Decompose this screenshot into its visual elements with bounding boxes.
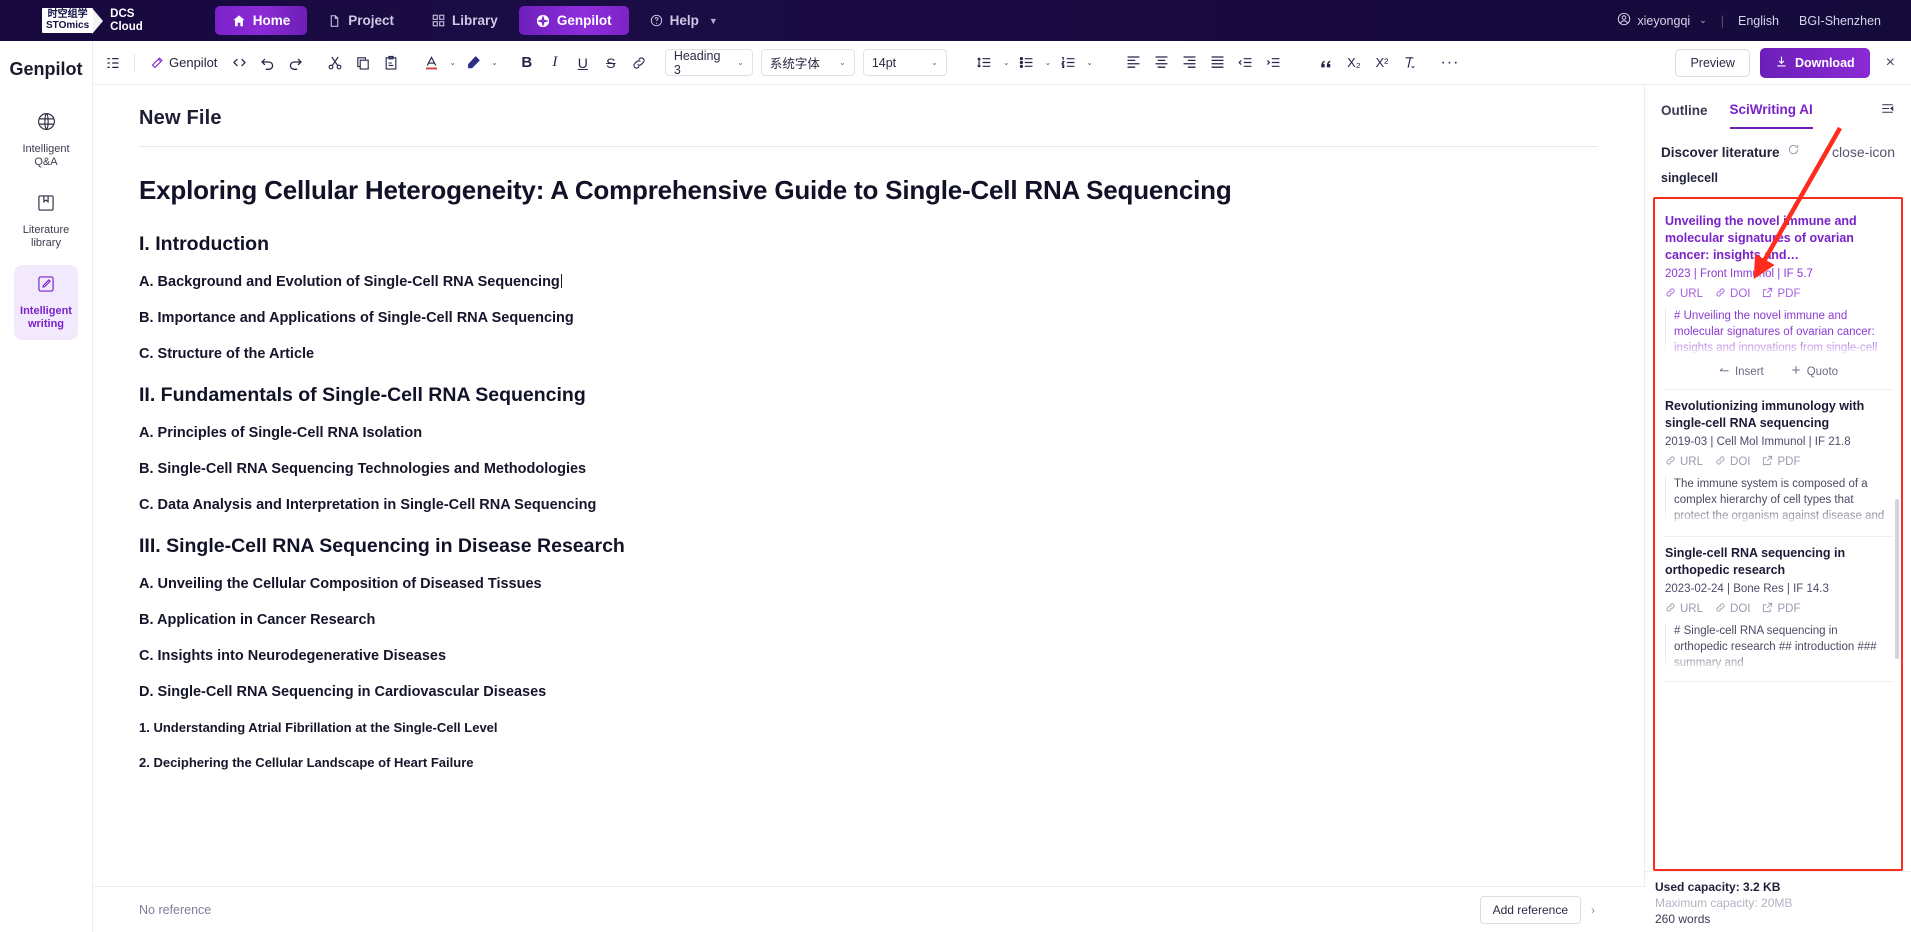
sidebar-item-intelligent-qa[interactable]: Intelligent Q&A bbox=[14, 102, 78, 178]
literature-actions: InsertQuoto bbox=[1665, 364, 1891, 379]
sidebar-item-intelligent-qa-label: Intelligent Q&A bbox=[16, 143, 76, 169]
download-icon bbox=[1775, 55, 1788, 71]
discover-literature-title: Discover literature bbox=[1661, 145, 1780, 160]
discover-literature-query: singlecell bbox=[1645, 161, 1911, 197]
literature-link-pdf[interactable]: PDF bbox=[1762, 287, 1800, 301]
refresh-icon[interactable] bbox=[1787, 143, 1800, 161]
align-right-button[interactable] bbox=[1176, 49, 1204, 77]
logo-slash-shape bbox=[92, 8, 103, 34]
bold-button[interactable]: B bbox=[513, 49, 541, 77]
nav-right-cluster: xieyongqi ⌄ | English BGI-Shenzhen bbox=[1617, 12, 1881, 29]
user-menu[interactable]: xieyongqi ⌄ bbox=[1617, 12, 1706, 29]
logo-chinese-text: 时空组学 bbox=[46, 10, 89, 21]
pencil-square-icon bbox=[36, 274, 56, 299]
superscript-button[interactable]: X² bbox=[1368, 49, 1396, 77]
document-heading-text: II. Fundamentals of Single-Cell RNA Sequ… bbox=[139, 384, 586, 406]
heading-level-select[interactable]: Heading 3 ⌄ bbox=[665, 49, 753, 76]
logo-stomics-text: STOmics bbox=[46, 21, 89, 32]
preview-button[interactable]: Preview bbox=[1675, 49, 1749, 77]
document-heading-text: A. Background and Evolution of Single-Ce… bbox=[139, 274, 560, 290]
literature-link-url[interactable]: URL bbox=[1665, 455, 1703, 469]
subscript-label: X₂ bbox=[1347, 55, 1361, 70]
font-color-button[interactable] bbox=[417, 49, 445, 77]
literature-action-quoto[interactable]: Quoto bbox=[1790, 364, 1838, 379]
undo-button[interactable] bbox=[253, 49, 281, 77]
bold-label: B bbox=[521, 54, 532, 71]
maximum-capacity-label: Maximum capacity: 20MB bbox=[1655, 896, 1901, 910]
document-heading-h3[interactable]: B. Single-Cell RNA Sequencing Technologi… bbox=[139, 461, 1598, 477]
help-icon bbox=[650, 14, 663, 27]
document-heading-text: D. Single-Cell RNA Sequencing in Cardiov… bbox=[139, 684, 546, 700]
literature-link-label: DOI bbox=[1730, 456, 1750, 468]
align-justify-button[interactable] bbox=[1204, 49, 1232, 77]
sidebar-item-literature-library[interactable]: Literature library bbox=[14, 184, 78, 259]
literature-links: URLDOIPDF bbox=[1665, 287, 1891, 301]
document-heading-h3[interactable]: C. Insights into Neurodegenerative Disea… bbox=[139, 648, 1598, 664]
strikethrough-label: S bbox=[606, 55, 615, 71]
font-family-value: 系统字体 bbox=[770, 53, 820, 72]
literature-results-annotated-region: Unveiling the novel immune and molecular… bbox=[1653, 197, 1903, 871]
document-heading-h3[interactable]: A. Background and Evolution of Single-Ce… bbox=[139, 274, 1598, 290]
document-heading-h2[interactable]: I. Introduction bbox=[139, 233, 1598, 256]
nav-item-help[interactable]: Help ▼ bbox=[633, 6, 735, 35]
literature-abstract: # Unveiling the novel immune and molecul… bbox=[1665, 308, 1891, 356]
align-left-button[interactable] bbox=[1120, 49, 1148, 77]
document-heading-h4[interactable]: 2. Deciphering the Cellular Landscape of… bbox=[139, 755, 1598, 770]
home-icon bbox=[232, 14, 246, 28]
strikethrough-button[interactable]: S bbox=[597, 49, 625, 77]
line-height-button[interactable] bbox=[971, 49, 999, 77]
indent-button[interactable] bbox=[1260, 49, 1288, 77]
document-heading-h3[interactable]: C. Structure of the Article bbox=[139, 346, 1598, 362]
font-color-dropdown-caret[interactable]: ⌄ bbox=[446, 58, 459, 67]
nav-divider: | bbox=[1721, 14, 1724, 28]
document-heading-text: B. Single-Cell RNA Sequencing Technologi… bbox=[139, 461, 586, 477]
literature-link-url[interactable]: URL bbox=[1665, 287, 1703, 301]
footer-expand-chevron-icon[interactable]: › bbox=[1587, 901, 1599, 919]
document-heading-text: 1. Understanding Atrial Fibrillation at … bbox=[139, 720, 498, 735]
cut-button[interactable] bbox=[321, 49, 349, 77]
document-blocks: I. IntroductionA. Background and Evoluti… bbox=[139, 233, 1598, 770]
document-heading-h4[interactable]: 1. Understanding Atrial Fibrillation at … bbox=[139, 720, 1598, 735]
literature-link-label: PDF bbox=[1777, 456, 1800, 468]
literature-link-doi[interactable]: DOI bbox=[1715, 455, 1750, 469]
link-icon bbox=[1665, 287, 1676, 301]
paste-button[interactable] bbox=[377, 49, 405, 77]
document-footer-actions: Add reference › bbox=[1480, 896, 1599, 924]
literature-link-label: URL bbox=[1680, 288, 1703, 300]
nav-item-project-label: Project bbox=[348, 13, 394, 28]
nav-item-library-label: Library bbox=[452, 13, 498, 28]
literature-card[interactable]: Unveiling the novel immune and molecular… bbox=[1663, 205, 1893, 390]
document-footer: No reference Add reference › bbox=[93, 886, 1645, 932]
file-icon bbox=[328, 14, 341, 28]
used-capacity-label: Used capacity: 3.2 KB bbox=[1655, 880, 1901, 894]
document-heading-h3[interactable]: B. Application in Cancer Research bbox=[139, 612, 1598, 628]
insert-arrow-icon bbox=[1718, 364, 1730, 379]
document-heading-h2[interactable]: III. Single-Cell RNA Sequencing in Disea… bbox=[139, 535, 1598, 558]
document-heading-h3[interactable]: C. Data Analysis and Interpretation in S… bbox=[139, 497, 1598, 513]
editor-shell: Genpilot ⌄ ⌄ B bbox=[93, 41, 1911, 932]
close-editor-button[interactable]: × bbox=[1880, 54, 1901, 72]
literature-link-label: URL bbox=[1680, 456, 1703, 468]
insert-link-button[interactable] bbox=[625, 49, 653, 77]
globe-icon bbox=[36, 111, 57, 137]
external-link-icon bbox=[1762, 455, 1773, 469]
genpilot-assist-button[interactable]: Genpilot bbox=[142, 49, 225, 77]
chevron-down-icon: ⌄ bbox=[737, 58, 744, 67]
add-reference-button[interactable]: Add reference bbox=[1480, 896, 1581, 924]
redo-button[interactable] bbox=[281, 49, 309, 77]
stomics-dcs-cloud-logo[interactable]: 时空组学 STOmics DCS Cloud bbox=[42, 8, 143, 34]
subscript-button[interactable]: X₂ bbox=[1340, 49, 1368, 77]
bullet-list-dropdown-caret[interactable]: ⌄ bbox=[1042, 58, 1055, 67]
literature-link-pdf[interactable]: PDF bbox=[1762, 455, 1800, 469]
literature-results-list[interactable]: Unveiling the novel immune and molecular… bbox=[1655, 199, 1901, 869]
tab-sciwriting-ai[interactable]: SciWriting AI bbox=[1730, 102, 1813, 129]
chevron-down-icon[interactable]: ⌄ bbox=[1699, 15, 1707, 26]
document-heading-text: C. Structure of the Article bbox=[139, 346, 314, 362]
language-selector[interactable]: English bbox=[1738, 14, 1779, 28]
literature-abstract: # Single-cell RNA sequencing in orthoped… bbox=[1665, 623, 1891, 671]
literature-action-insert[interactable]: Insert bbox=[1718, 364, 1764, 379]
highlight-dropdown-caret[interactable]: ⌄ bbox=[488, 58, 501, 67]
external-link-icon bbox=[1762, 602, 1773, 616]
document-heading-text: I. Introduction bbox=[139, 233, 269, 255]
align-center-button[interactable] bbox=[1148, 49, 1176, 77]
more-options-button[interactable]: more-icon··· bbox=[1436, 49, 1464, 77]
document-heading-h2[interactable]: II. Fundamentals of Single-Cell RNA Sequ… bbox=[139, 384, 1598, 407]
nav-item-library[interactable]: Library bbox=[415, 6, 515, 35]
underline-button[interactable]: U bbox=[569, 49, 597, 77]
literature-link-label: PDF bbox=[1777, 603, 1800, 615]
literature-link-label: DOI bbox=[1730, 288, 1750, 300]
document-heading-h3[interactable]: A. Principles of Single-Cell RNA Isolati… bbox=[139, 425, 1598, 441]
discover-literature-header: Discover literature close-icon bbox=[1645, 129, 1911, 161]
download-label: Download bbox=[1795, 56, 1855, 70]
nav-item-project[interactable]: Project bbox=[311, 6, 411, 35]
italic-label: I bbox=[552, 54, 557, 71]
book-icon bbox=[36, 193, 56, 218]
toggle-outline-button[interactable] bbox=[99, 49, 127, 77]
tab-outline[interactable]: Outline bbox=[1661, 103, 1708, 128]
numbered-list-dropdown-caret[interactable]: ⌄ bbox=[1083, 58, 1096, 67]
capacity-status: Used capacity: 3.2 KB Maximum capacity: … bbox=[1645, 871, 1911, 932]
superscript-label: X² bbox=[1375, 55, 1388, 70]
document-heading-h3[interactable]: B. Importance and Applications of Single… bbox=[139, 310, 1598, 326]
sidebar-item-intelligent-writing-label: Intelligent writing bbox=[16, 305, 76, 331]
nav-item-help-label: Help bbox=[670, 13, 699, 28]
right-panel-scrollbar[interactable] bbox=[1895, 499, 1899, 659]
left-sidebar: Genpilot Intelligent Q&A Literature libr… bbox=[0, 41, 93, 932]
nav-item-home-label: Home bbox=[253, 13, 291, 28]
editor-toolbar: Genpilot ⌄ ⌄ B bbox=[93, 41, 1911, 85]
literature-card[interactable]: Single-cell RNA sequencing in orthopedic… bbox=[1663, 537, 1893, 682]
heading-level-value: Heading 3 bbox=[674, 49, 727, 77]
text-cursor-caret bbox=[561, 274, 562, 288]
document-heading-text: III. Single-Cell RNA Sequencing in Disea… bbox=[139, 535, 625, 557]
literature-link-doi[interactable]: DOI bbox=[1715, 602, 1750, 616]
document-column: New File Exploring Cellular Heterogeneit… bbox=[93, 85, 1645, 932]
italic-button[interactable]: I bbox=[541, 49, 569, 77]
numbered-list-button[interactable] bbox=[1054, 49, 1082, 77]
literature-link-doi[interactable]: DOI bbox=[1715, 287, 1750, 301]
literature-link-label: URL bbox=[1680, 603, 1703, 615]
sidebar-item-intelligent-writing[interactable]: Intelligent writing bbox=[14, 265, 78, 340]
top-navigation-bar: 时空组学 STOmics DCS Cloud Home Project Libr… bbox=[0, 0, 1911, 41]
copy-button[interactable] bbox=[349, 49, 377, 77]
document-rule-divider bbox=[139, 146, 1598, 147]
organization-label[interactable]: BGI-Shenzhen bbox=[1799, 14, 1881, 28]
link-icon bbox=[1665, 455, 1676, 469]
word-count-label: 260 words bbox=[1655, 912, 1901, 926]
panel-collapse-icon[interactable] bbox=[1880, 101, 1895, 129]
literature-meta: 2019-03 | Cell Mol Immunol | IF 21.8 bbox=[1665, 435, 1891, 450]
literature-link-label: PDF bbox=[1777, 288, 1800, 300]
literature-link-label: DOI bbox=[1730, 603, 1750, 615]
editor-body: New File Exploring Cellular Heterogeneit… bbox=[93, 85, 1911, 932]
literature-links: URLDOIPDF bbox=[1665, 602, 1891, 616]
grid-icon bbox=[432, 14, 445, 27]
link-icon bbox=[1665, 602, 1676, 616]
close-discover-literature-icon[interactable]: close-icon bbox=[1832, 144, 1895, 160]
literature-meta: 2023-02-24 | Bone Res | IF 14.3 bbox=[1665, 582, 1891, 597]
toolbar-divider bbox=[134, 54, 135, 72]
highlight-button[interactable] bbox=[459, 49, 487, 77]
nav-item-home[interactable]: Home bbox=[215, 6, 308, 35]
literature-title[interactable]: Unveiling the novel immune and molecular… bbox=[1665, 213, 1891, 264]
blockquote-button[interactable] bbox=[1312, 49, 1340, 77]
link-icon bbox=[1715, 287, 1726, 301]
right-panel-tabs: Outline SciWriting AI bbox=[1645, 85, 1911, 129]
literature-card[interactable]: Revolutionizing immunology with single-c… bbox=[1663, 390, 1893, 537]
link-icon bbox=[1715, 455, 1726, 469]
document-scroll-area[interactable]: New File Exploring Cellular Heterogeneit… bbox=[93, 85, 1644, 886]
external-link-icon bbox=[1762, 287, 1773, 301]
document-heading-text: C. Data Analysis and Interpretation in S… bbox=[139, 497, 596, 513]
literature-links: URLDOIPDF bbox=[1665, 455, 1891, 469]
literature-action-label: Quoto bbox=[1807, 366, 1838, 378]
nav-item-genpilot-label: Genpilot bbox=[557, 13, 612, 28]
outdent-button[interactable] bbox=[1232, 49, 1260, 77]
document-heading-text: B. Application in Cancer Research bbox=[139, 612, 375, 628]
sidebar-item-literature-library-label: Literature library bbox=[16, 224, 76, 250]
literature-title[interactable]: Revolutionizing immunology with single-c… bbox=[1665, 398, 1891, 432]
document-heading-text: C. Insights into Neurodegenerative Disea… bbox=[139, 648, 446, 664]
literature-abstract: The immune system is composed of a compl… bbox=[1665, 476, 1891, 526]
document-heading-text: 2. Deciphering the Cellular Landscape of… bbox=[139, 755, 473, 770]
document-heading-h3[interactable]: D. Single-Cell RNA Sequencing in Cardiov… bbox=[139, 684, 1598, 700]
chevron-down-icon[interactable]: ▼ bbox=[709, 16, 718, 26]
chevron-down-icon: ⌄ bbox=[839, 58, 846, 67]
literature-link-pdf[interactable]: PDF bbox=[1762, 602, 1800, 616]
document-title[interactable]: Exploring Cellular Heterogeneity: A Comp… bbox=[139, 173, 1598, 207]
literature-action-label: Insert bbox=[1735, 366, 1764, 378]
document-heading-h3[interactable]: A. Unveiling the Cellular Composition of… bbox=[139, 576, 1598, 592]
clear-formatting-button[interactable] bbox=[1396, 49, 1424, 77]
line-height-dropdown-caret[interactable]: ⌄ bbox=[1000, 58, 1013, 67]
document-heading-text: B. Importance and Applications of Single… bbox=[139, 310, 574, 326]
font-family-select[interactable]: 系统字体 ⌄ bbox=[761, 49, 855, 76]
font-size-value: 14pt bbox=[872, 56, 896, 70]
main-nav-items: Home Project Library Genpilot Help ▼ bbox=[215, 6, 735, 35]
document-heading-text: A. Principles of Single-Cell RNA Isolati… bbox=[139, 425, 422, 441]
avatar-icon bbox=[1617, 12, 1631, 29]
genpilot-icon bbox=[536, 14, 550, 28]
link-icon bbox=[1715, 602, 1726, 616]
underline-label: U bbox=[578, 55, 588, 71]
literature-title[interactable]: Single-cell RNA sequencing in orthopedic… bbox=[1665, 545, 1891, 579]
logo-dcs-line: DCS bbox=[110, 8, 143, 21]
toolbar-right-actions: Preview Download × bbox=[1675, 48, 1901, 78]
plus-icon bbox=[1790, 364, 1802, 379]
bullet-list-button[interactable] bbox=[1013, 49, 1041, 77]
download-button[interactable]: Download bbox=[1760, 48, 1870, 78]
no-reference-label: No reference bbox=[139, 903, 211, 917]
sidebar-brand-title: Genpilot bbox=[10, 59, 83, 80]
logo-cloud-line: Cloud bbox=[110, 21, 143, 34]
font-size-select[interactable]: 14pt ⌄ bbox=[863, 49, 947, 76]
document-filename[interactable]: New File bbox=[139, 107, 1598, 130]
document-heading-text: A. Unveiling the Cellular Composition of… bbox=[139, 576, 542, 592]
magic-wand-icon bbox=[150, 56, 164, 70]
nav-item-genpilot[interactable]: Genpilot bbox=[519, 6, 629, 35]
literature-meta: 2023 | Front Immunol | IF 5.7 bbox=[1665, 267, 1891, 282]
source-code-button[interactable] bbox=[225, 49, 253, 77]
logo-product-name: DCS Cloud bbox=[110, 8, 143, 33]
stomics-logo-mark: 时空组学 STOmics bbox=[42, 8, 93, 33]
genpilot-assist-label: Genpilot bbox=[169, 55, 217, 70]
right-panel: Outline SciWriting AI Discover literatur… bbox=[1645, 85, 1911, 932]
literature-link-url[interactable]: URL bbox=[1665, 602, 1703, 616]
user-name: xieyongqi bbox=[1637, 14, 1690, 28]
chevron-down-icon: ⌄ bbox=[931, 58, 938, 67]
